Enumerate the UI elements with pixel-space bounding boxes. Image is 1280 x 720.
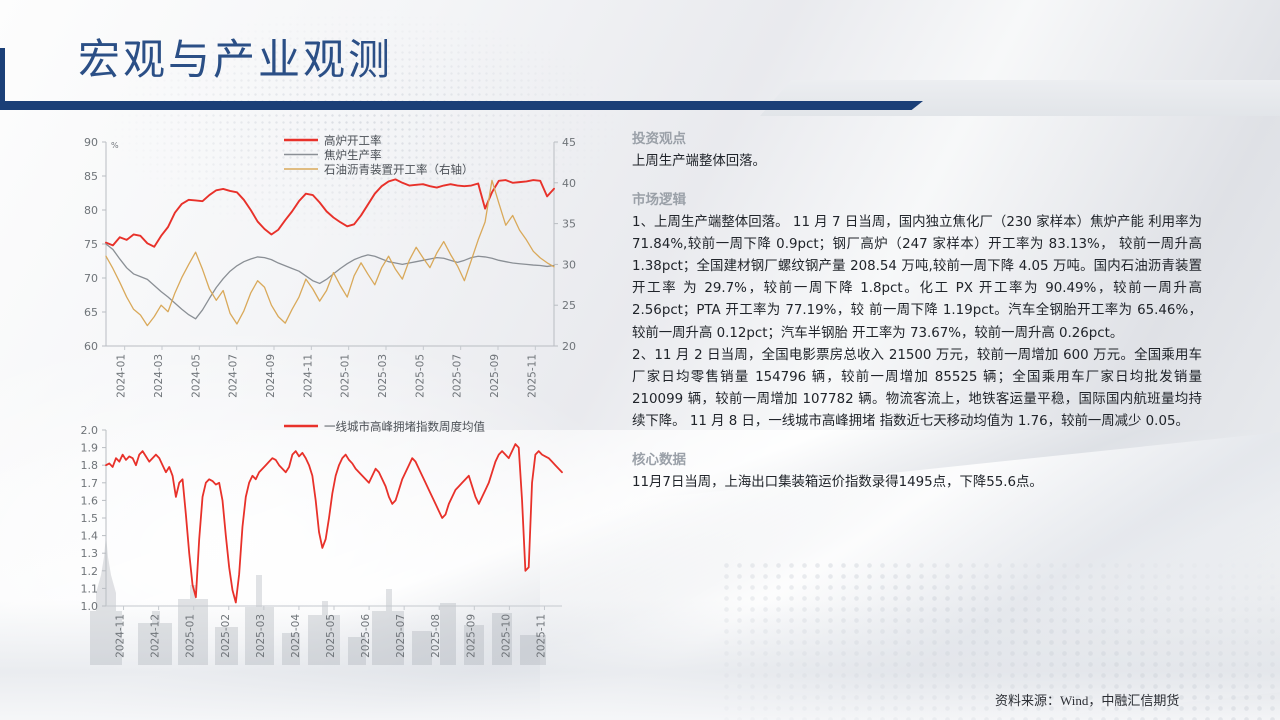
y-axis-tick-label: 70 xyxy=(84,272,98,285)
x-axis-tick-label: 2025-01 xyxy=(340,354,352,398)
y-axis-tick-label: 1.6 xyxy=(81,494,99,507)
x-axis-tick-label: 2024-05 xyxy=(190,354,202,398)
section-investment-view: 投资观点 上周生产端整体回落。 xyxy=(632,128,1202,173)
x-axis-tick-label: 2025-09 xyxy=(489,354,501,398)
x-axis-tick-label: 2024-07 xyxy=(228,354,240,398)
x-axis-tick-label: 2025-07 xyxy=(452,354,464,398)
page-title: 宏观与产业观测 xyxy=(78,36,393,86)
y-axis-tick-label: 60 xyxy=(84,340,98,353)
x-axis-tick-label: 2025-08 xyxy=(430,614,442,658)
chart-operating-rates-svg: 60657075808590%2025303540452024-012024-0… xyxy=(62,128,607,400)
x-axis-tick-label: 2025-11 xyxy=(526,354,538,398)
chart-operating-rates: 60657075808590%2025303540452024-012024-0… xyxy=(62,128,607,400)
x-axis-tick-label: 2025-05 xyxy=(325,614,337,658)
x-axis-tick-label: 2024-11 xyxy=(302,354,314,398)
x-axis-tick-label: 2024-12 xyxy=(150,614,162,658)
y-axis-tick-label: 1.3 xyxy=(81,547,99,560)
y2-axis-tick-label: 45 xyxy=(562,136,576,149)
series-line xyxy=(106,444,562,602)
slide-root: 宏观与产业观测 60657075808590%2025303540452024-… xyxy=(0,0,1280,720)
legend-label: 焦炉生产率 xyxy=(324,148,382,162)
x-axis-tick-label: 2024-09 xyxy=(265,354,277,398)
section-market-logic: 市场逻辑 1、上周生产端整体回落。 11 月 7 日当周，国内独立焦化厂（230… xyxy=(632,189,1202,433)
x-axis-tick-label: 2025-05 xyxy=(414,354,426,398)
commentary-panel: 投资观点 上周生产端整体回落。 市场逻辑 1、上周生产端整体回落。 11 月 7… xyxy=(632,128,1202,703)
y2-axis-tick-label: 35 xyxy=(562,218,576,231)
x-axis-tick-label: 2024-03 xyxy=(153,354,165,398)
charts-column: 60657075808590%2025303540452024-012024-0… xyxy=(62,128,607,688)
section-spacer xyxy=(632,433,1202,449)
y-axis-tick-label: 2.0 xyxy=(81,424,99,437)
x-axis-tick-label: 2025-03 xyxy=(377,354,389,398)
x-axis-tick-label: 2025-10 xyxy=(500,614,512,658)
section-core-data: 核心数据 11月7日当周，上海出口集装箱运价指数录得1495点，下降55.6点。 xyxy=(632,449,1202,494)
y-axis-tick-label: 80 xyxy=(84,204,98,217)
y-axis-tick-label: 75 xyxy=(84,238,98,251)
x-axis-tick-label: 2024-01 xyxy=(116,354,128,398)
y-axis-tick-label: 85 xyxy=(84,170,98,183)
x-axis-tick-label: 2025-02 xyxy=(220,614,232,658)
y2-axis-tick-label: 20 xyxy=(562,340,576,353)
x-axis-tick-label: 2025-09 xyxy=(465,614,477,658)
y2-axis-tick-label: 25 xyxy=(562,299,576,312)
x-axis-tick-label: 2025-06 xyxy=(360,614,372,658)
y-axis-tick-label: 1.4 xyxy=(81,530,99,543)
y-axis-unit-label: % xyxy=(111,141,119,150)
legend-label: 一线城市高峰拥堵指数周度均值 xyxy=(324,420,485,434)
y2-axis-tick-label: 30 xyxy=(562,258,576,271)
legend-label: 石油沥青装置开工率（右轴） xyxy=(324,163,474,177)
section-spacer xyxy=(632,173,1202,189)
section-paragraph: 11月7日当周，上海出口集装箱运价指数录得1495点，下降55.6点。 xyxy=(632,472,1202,494)
x-axis-tick-label: 2025-04 xyxy=(290,614,302,658)
y-axis-tick-label: 1.7 xyxy=(81,477,99,490)
y-axis-tick-label: 65 xyxy=(84,306,98,319)
legend-label: 高炉开工率 xyxy=(324,134,382,148)
slide-header: 宏观与产业观测 xyxy=(0,0,1280,116)
y-axis-tick-label: 90 xyxy=(84,136,98,149)
header-fold-shape xyxy=(760,80,1280,116)
y-axis-tick-label: 1.8 xyxy=(81,459,99,472)
source-note: 资料来源：Wind，中融汇信期货 xyxy=(995,690,1179,709)
section-heading: 市场逻辑 xyxy=(632,189,1202,211)
chart-congestion-index: 1.01.11.21.31.41.51.61.71.81.92.02024-11… xyxy=(62,416,607,664)
x-axis-tick-label: 2025-11 xyxy=(536,614,548,658)
section-paragraph: 上周生产端整体回落。 xyxy=(632,151,1202,173)
section-heading: 核心数据 xyxy=(632,449,1202,471)
header-blue-bar xyxy=(0,101,905,110)
section-paragraph: 2、11 月 2 日当周，全国电影票房总收入 21500 万元，较前一周增加 6… xyxy=(632,345,1202,433)
x-axis-tick-label: 2025-01 xyxy=(185,614,197,658)
header-accent-tick xyxy=(0,48,5,102)
section-heading: 投资观点 xyxy=(632,128,1202,150)
x-axis-tick-label: 2025-03 xyxy=(255,614,267,658)
y-axis-tick-label: 1.5 xyxy=(81,512,99,525)
chart-congestion-index-svg: 1.01.11.21.31.41.51.61.71.81.92.02024-11… xyxy=(62,416,607,664)
y-axis-tick-label: 1.0 xyxy=(81,600,99,613)
y2-axis-tick-label: 40 xyxy=(562,177,576,190)
y-axis-tick-label: 1.1 xyxy=(81,582,99,595)
x-axis-tick-label: 2024-11 xyxy=(115,614,127,658)
y-axis-tick-label: 1.9 xyxy=(81,442,99,455)
section-paragraph: 1、上周生产端整体回落。 11 月 7 日当周，国内独立焦化厂（230 家样本）… xyxy=(632,212,1202,345)
y-axis-tick-label: 1.2 xyxy=(81,565,99,578)
x-axis-tick-label: 2025-07 xyxy=(395,614,407,658)
